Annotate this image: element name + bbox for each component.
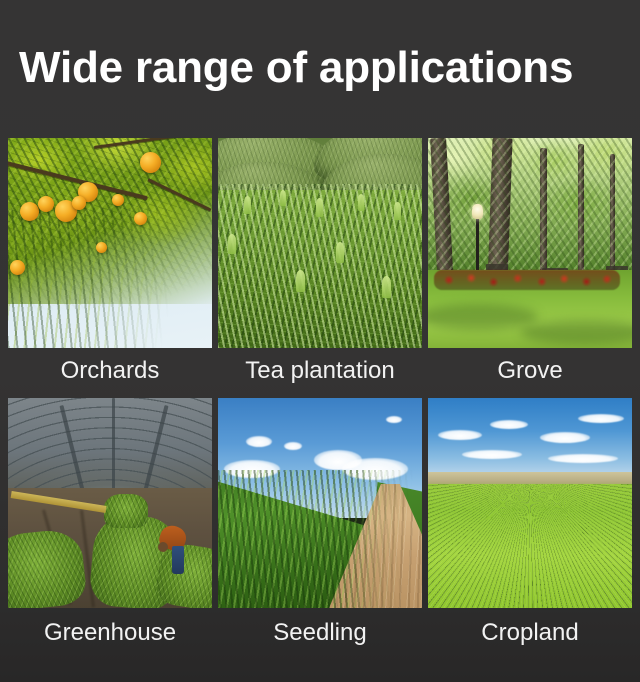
gallery-row-1 (8, 138, 632, 348)
tea-shoot-icon (394, 202, 401, 220)
orange-fruit-icon (112, 194, 124, 206)
caption-row-2: Greenhouse Seedling Cropland (8, 616, 632, 660)
orange-fruit-icon (20, 202, 39, 221)
tea-shoot-icon (336, 242, 344, 263)
gallery-tile-cropland[interactable] (428, 398, 632, 608)
orchard-photo (8, 138, 212, 348)
cropland-photo (428, 398, 632, 608)
lamp-head-icon (472, 204, 483, 219)
caption-row-1: Orchards Tea plantation Grove (8, 354, 632, 398)
gallery-tile-tea-plantation[interactable] (218, 138, 422, 348)
application-showcase-panel: Wide range of applications (0, 0, 640, 682)
caption-greenhouse: Greenhouse (8, 616, 212, 660)
seedling-field-photo (218, 398, 422, 608)
cloud-icon (578, 414, 624, 423)
cloud-icon (246, 436, 272, 447)
cloud-icon (284, 442, 302, 450)
gallery-tile-seedling[interactable] (218, 398, 422, 608)
orange-fruit-icon (38, 196, 54, 212)
tea-shoot-icon (316, 198, 323, 217)
gallery-tile-grove[interactable] (428, 138, 632, 348)
worker-legs (172, 546, 184, 574)
cloud-icon (540, 432, 590, 443)
gallery-tile-greenhouse[interactable] (8, 398, 212, 608)
cloud-icon (548, 454, 618, 463)
orange-fruit-icon (134, 212, 147, 225)
tea-shoot-icon (296, 270, 305, 292)
grove-photo (428, 138, 632, 348)
flower-bed (434, 270, 620, 290)
furrow-highlights (428, 484, 632, 608)
cloud-icon (386, 416, 402, 423)
greenhouse-photo (8, 398, 212, 608)
caption-seedling: Seedling (218, 616, 422, 660)
tea-shoot-icon (358, 194, 364, 211)
tea-shoot-icon (228, 234, 236, 254)
orange-fruit-icon (140, 152, 161, 173)
caption-grove: Grove (428, 354, 632, 398)
orange-fruit-icon (72, 196, 86, 210)
cloud-icon (490, 420, 528, 429)
foliage-texture-layer (428, 138, 632, 288)
caption-orchards: Orchards (8, 354, 212, 398)
orange-fruit-icon (96, 242, 107, 253)
caption-cropland: Cropland (428, 616, 632, 660)
tea-shoot-icon (382, 276, 391, 298)
orange-fruit-icon (10, 260, 25, 275)
tea-shoot-icon (280, 190, 286, 206)
worker-head (158, 542, 168, 552)
caption-tea-plantation: Tea plantation (218, 354, 422, 398)
tea-shoot-icon (244, 196, 251, 214)
cloud-icon (462, 450, 522, 459)
tea-plantation-photo (218, 138, 422, 348)
crop-blade-texture (218, 470, 422, 608)
gallery-tile-orchards[interactable] (8, 138, 212, 348)
crop-bed (104, 494, 148, 528)
cloud-icon (438, 430, 482, 440)
gallery-row-2 (8, 398, 632, 608)
page-title: Wide range of applications (19, 40, 623, 96)
